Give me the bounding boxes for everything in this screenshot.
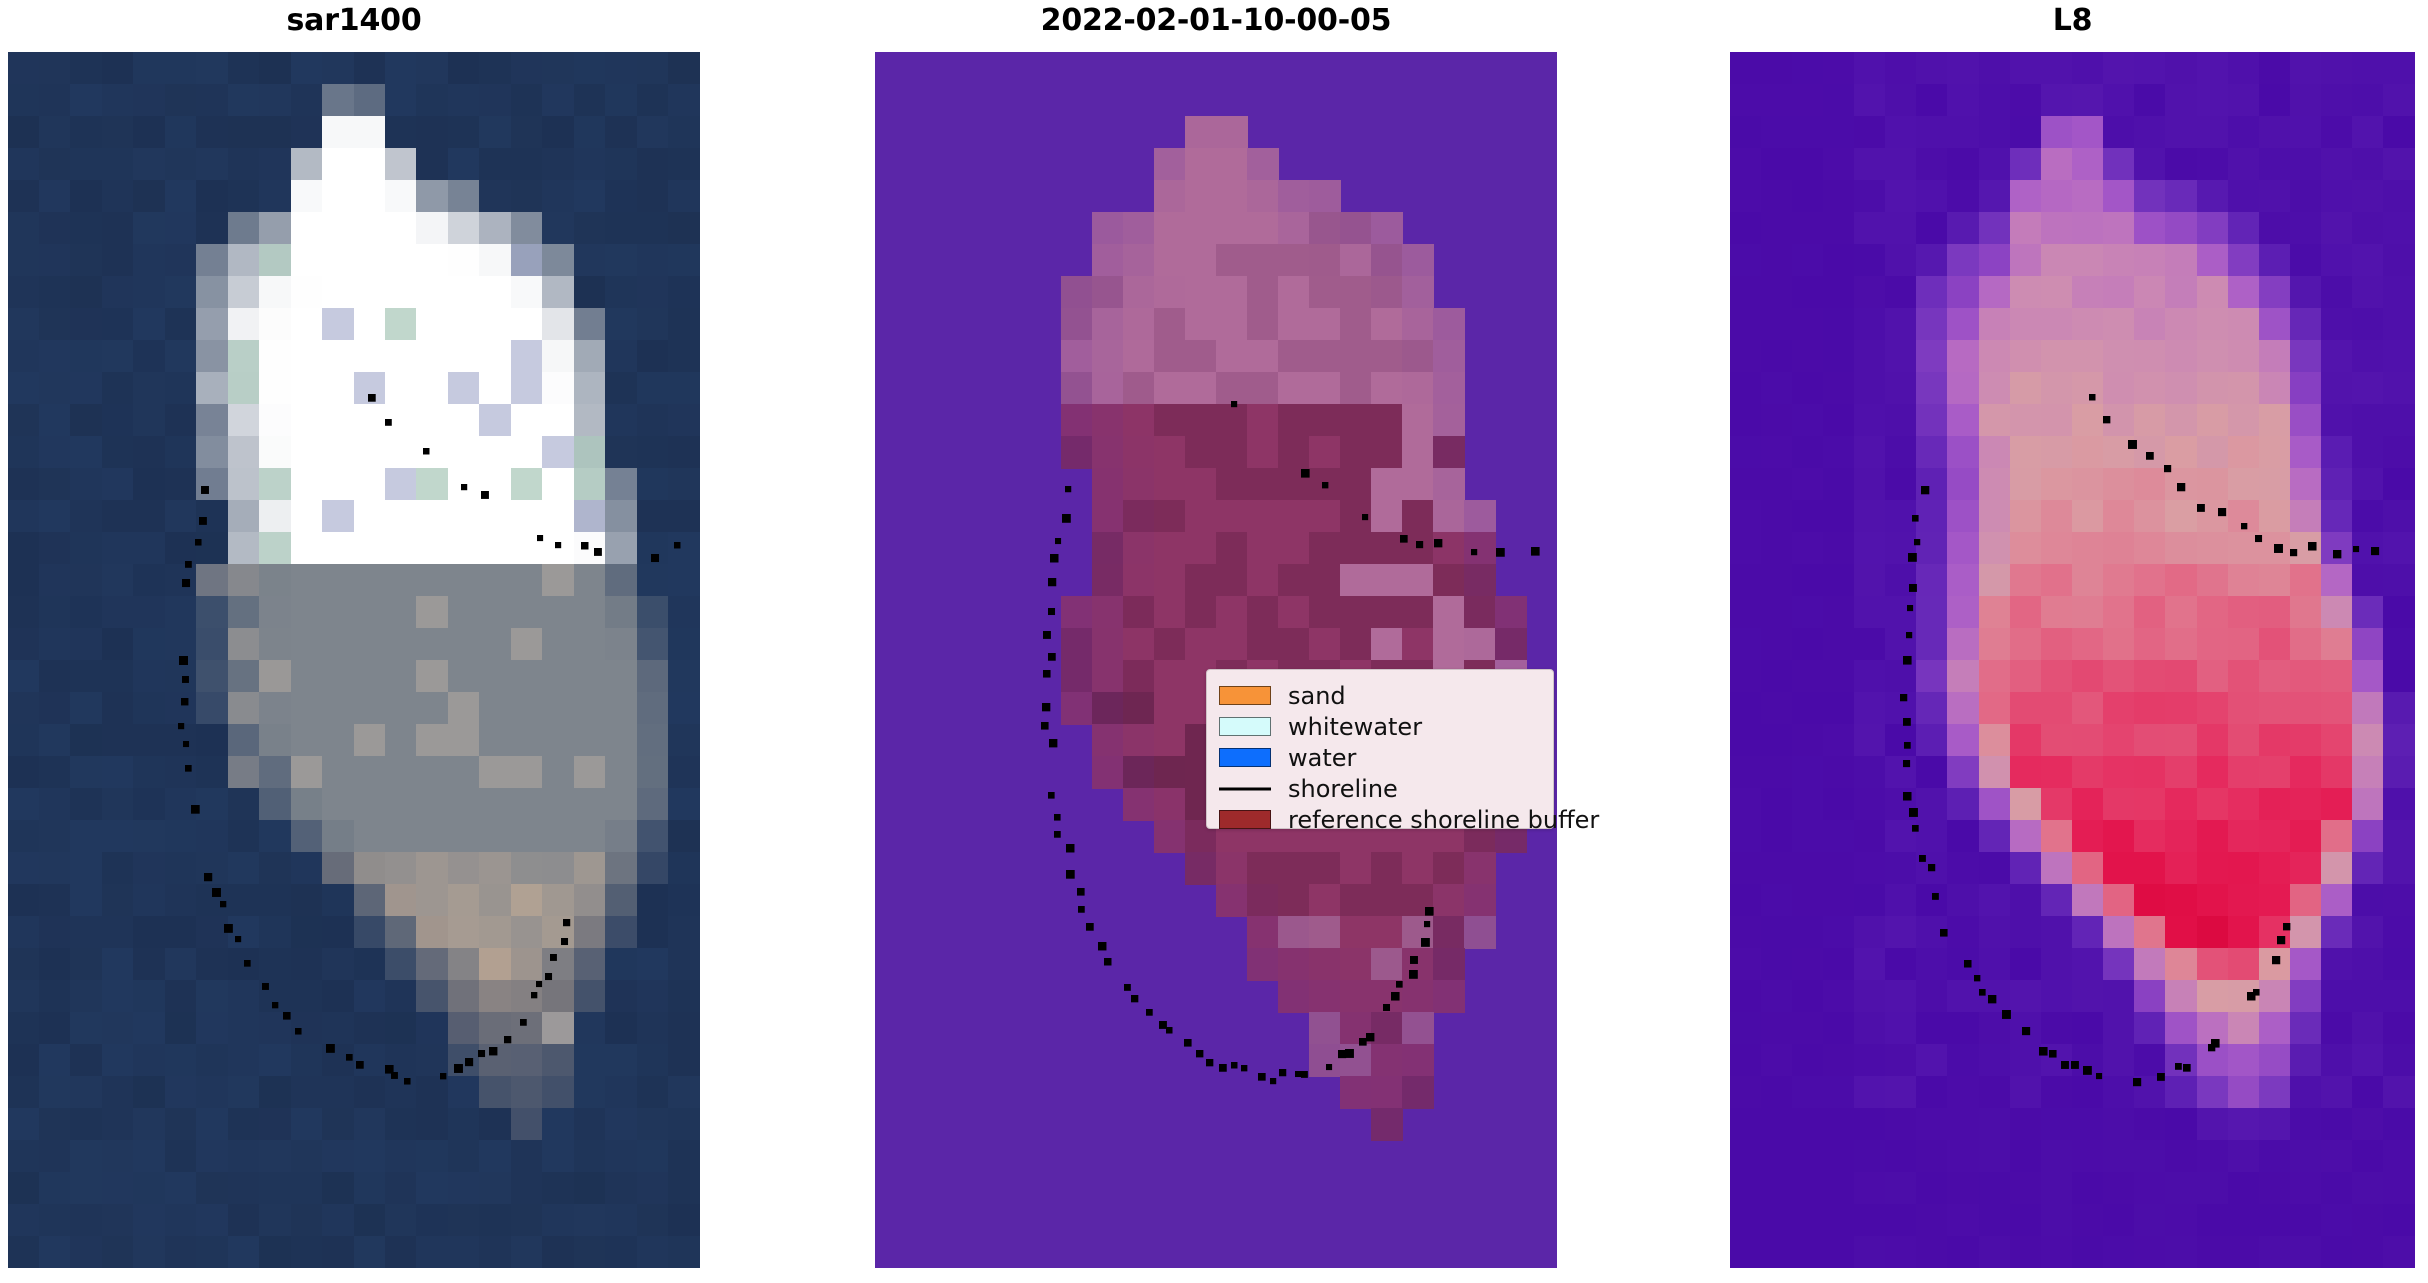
legend-item-reference-shoreline-buffer: reference shoreline buffer <box>1219 804 1539 835</box>
whitewater-swatch-icon <box>1219 717 1271 736</box>
legend-label-sand: sand <box>1288 684 1346 708</box>
legend-item-whitewater: whitewater <box>1219 711 1539 742</box>
panel-sar1400: sar1400 <box>8 0 700 1283</box>
panel-title-l8: L8 <box>1730 6 2415 36</box>
legend-item-sand: sand <box>1219 680 1539 711</box>
legend-label-reference-shoreline-buffer: reference shoreline buffer <box>1288 808 1599 832</box>
sar-rgb-image <box>8 52 700 1268</box>
classification-map-image <box>875 52 1557 1268</box>
legend-item-shoreline: shoreline <box>1219 773 1539 804</box>
sand-swatch-icon <box>1219 686 1271 705</box>
legend-label-shoreline: shoreline <box>1288 777 1398 801</box>
l8-index-image <box>1730 52 2415 1268</box>
panel-title-sar1400: sar1400 <box>8 6 700 36</box>
legend-item-water: water <box>1219 742 1539 773</box>
legend-label-whitewater: whitewater <box>1288 715 1422 739</box>
water-swatch-icon <box>1219 748 1271 767</box>
legend-box: sand whitewater water shoreline referenc… <box>1206 669 1554 829</box>
panel-l8: L8 <box>1730 0 2415 1283</box>
figure-root: sar1400 2022-02-01-10-00-05 sand whitewa… <box>0 0 2428 1283</box>
shoreline-line-icon <box>1219 779 1271 798</box>
panel-title-classification: 2022-02-01-10-00-05 <box>875 6 1557 36</box>
panel-classification: 2022-02-01-10-00-05 sand whitewater wate… <box>875 0 1557 1283</box>
legend-label-water: water <box>1288 746 1356 770</box>
reference-shoreline-buffer-swatch-icon <box>1219 810 1271 829</box>
